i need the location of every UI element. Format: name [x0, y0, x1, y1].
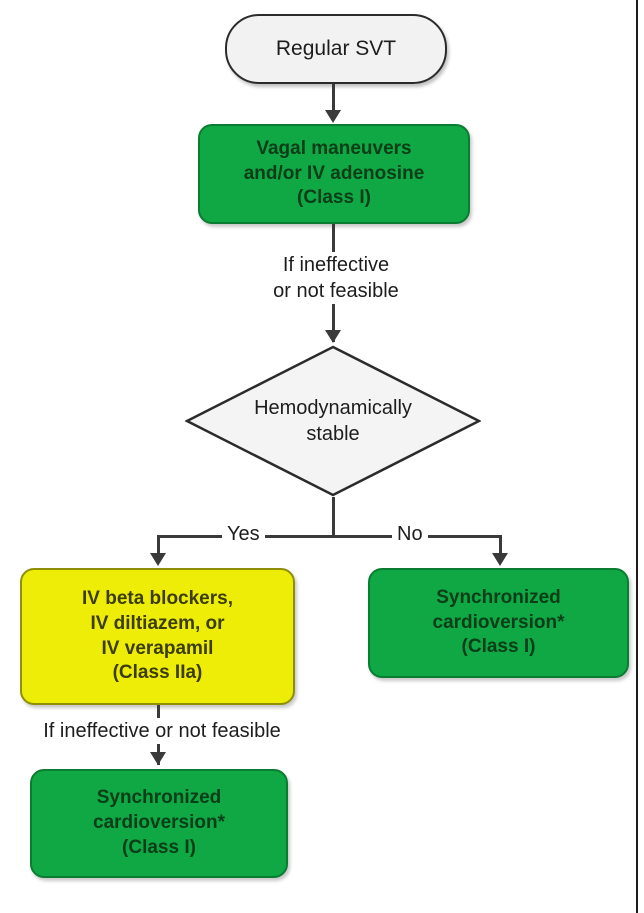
arrowhead-decision-no: [492, 553, 508, 566]
node-synchronized-cardioversion-refractory-label: Synchronized cardioversion* (Class I): [93, 786, 225, 860]
flowchart-canvas: Regular SVT Vagal maneuvers and/or IV ad…: [0, 0, 644, 913]
edge-label-if-ineffective-upper: If ineffective or not feasible: [232, 252, 440, 304]
connector-decision-bus: [157, 535, 502, 538]
decision-diamond-shape: [185, 345, 481, 497]
page-edge-rule: [636, 0, 638, 913]
branch-label-yes: Yes: [222, 524, 265, 544]
node-rate-control-drugs[interactable]: IV beta blockers, IV diltiazem, or IV ve…: [20, 568, 295, 705]
node-regular-svt[interactable]: Regular SVT: [225, 14, 447, 84]
arrowhead-start-to-vagal: [325, 110, 341, 123]
node-hemodynamically-stable[interactable]: Hemodynamically stable: [185, 345, 481, 497]
edge-label-if-ineffective-lower: If ineffective or not feasible: [8, 718, 316, 744]
node-regular-svt-label: Regular SVT: [276, 35, 396, 62]
node-vagal-maneuvers[interactable]: Vagal maneuvers and/or IV adenosine (Cla…: [198, 124, 470, 224]
arrowhead-decision-yes: [150, 553, 166, 566]
node-synchronized-cardioversion-refractory[interactable]: Synchronized cardioversion* (Class I): [30, 769, 288, 878]
arrowhead-vagal-to-decision: [325, 330, 341, 343]
arrowhead-rate-control-to-cardioversion: [150, 752, 166, 765]
node-synchronized-cardioversion-unstable-label: Synchronized cardioversion* (Class I): [433, 586, 565, 660]
connector-decision-stem: [332, 497, 335, 537]
node-rate-control-drugs-label: IV beta blockers, IV diltiazem, or IV ve…: [82, 587, 233, 686]
branch-label-no: No: [392, 524, 428, 544]
node-vagal-maneuvers-label: Vagal maneuvers and/or IV adenosine (Cla…: [244, 137, 425, 211]
node-synchronized-cardioversion-unstable[interactable]: Synchronized cardioversion* (Class I): [368, 568, 629, 678]
